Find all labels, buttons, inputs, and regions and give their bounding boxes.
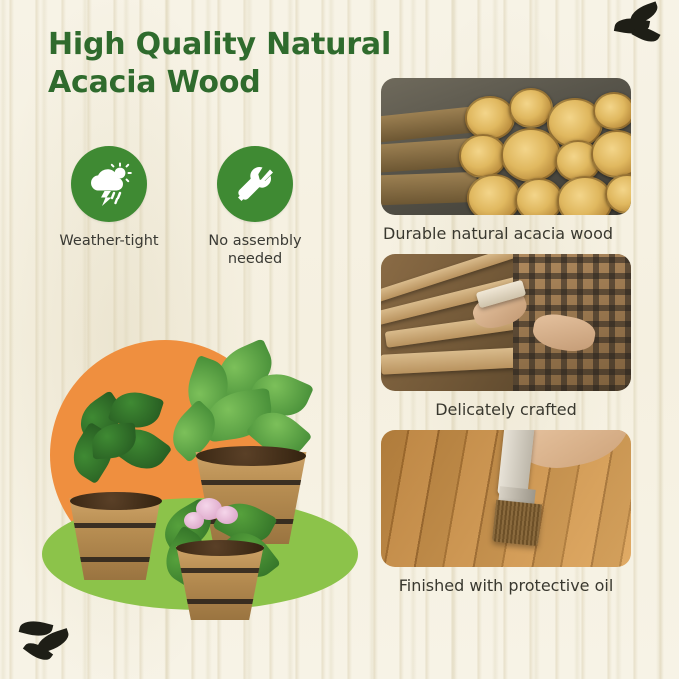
- page-title-line-2: Acacia Wood: [48, 64, 428, 102]
- leaf-ornament-bottom-left: [14, 617, 78, 665]
- weather-badge: [71, 146, 147, 222]
- cloud-rain-sun-icon: [85, 162, 133, 206]
- planter-soil: [196, 446, 306, 466]
- planter-soil: [176, 540, 264, 556]
- planter-soil: [70, 492, 162, 510]
- no-assembly-badge: [217, 146, 293, 222]
- page-title: High Quality Natural Acacia Wood: [48, 26, 428, 103]
- card-delicately-crafted: Delicately crafted: [381, 254, 631, 420]
- craftsman-sanding-wood-photo: [381, 254, 631, 391]
- feature-badge-list: Weather-tight No assembly needed: [48, 146, 316, 268]
- page-title-line-1: High Quality Natural: [48, 26, 428, 64]
- three-wooden-barrel-planters-with-plants: [20, 330, 370, 650]
- caption-delicately-crafted: Delicately crafted: [381, 391, 631, 420]
- feature-label-weather-tight: Weather-tight: [48, 232, 170, 250]
- plant-flower: [216, 506, 238, 524]
- card-durable-wood: Durable natural acacia wood: [381, 78, 631, 244]
- feature-weather-tight: Weather-tight: [48, 146, 170, 268]
- plant-flower: [184, 512, 204, 529]
- stacked-logs-photo: [381, 78, 631, 215]
- feature-card-list: Durable natural acacia wood Delicately c…: [381, 78, 631, 606]
- caption-protective-oil: Finished with protective oil: [381, 567, 631, 596]
- caption-durable-wood: Durable natural acacia wood: [381, 215, 631, 244]
- wrench-screwdriver-icon: [232, 161, 278, 207]
- card-protective-oil: Finished with protective oil: [381, 430, 631, 596]
- leaf-ornament-top-right: [605, 4, 665, 48]
- feature-no-assembly: No assembly needed: [194, 146, 316, 268]
- feature-label-no-assembly: No assembly needed: [194, 232, 316, 268]
- brush-applying-oil-photo: [381, 430, 631, 567]
